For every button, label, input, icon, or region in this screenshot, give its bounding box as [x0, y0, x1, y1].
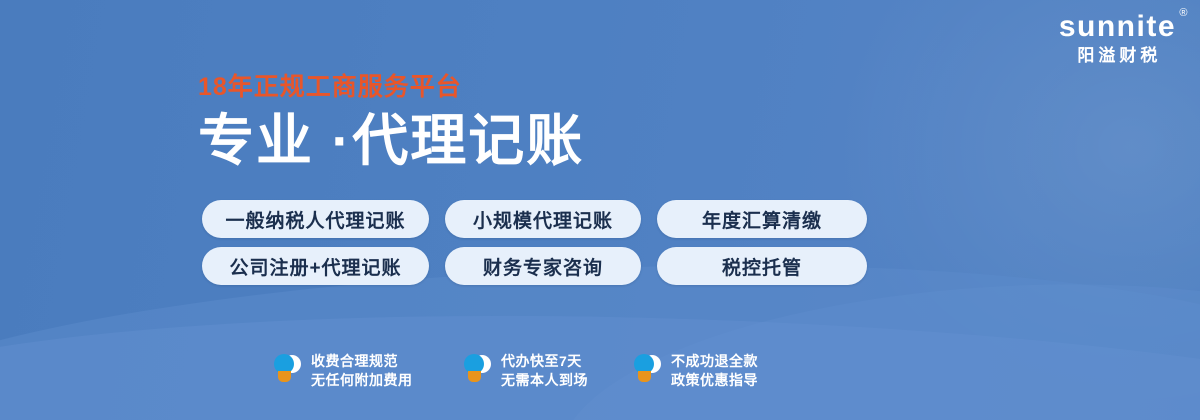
pill-finance-expert-consulting[interactable]: 财务专家咨询	[445, 247, 641, 285]
feature-strip: 收费合理规范 无任何附加费用 代办快至7天 无需本人到场 不成功退全款	[272, 352, 812, 390]
lightbulb-icon	[272, 353, 302, 389]
promo-banner: sunnite ® 阳溢财税 18年正规工商服务平台 专业 ·代理记账 一般纳税…	[0, 0, 1200, 420]
feature-text-pricing: 收费合理规范 无任何附加费用	[311, 352, 413, 390]
pill-company-registration-bookkeeping[interactable]: 公司注册+代理记账	[202, 247, 429, 285]
brand-logo[interactable]: sunnite ® 阳溢财税	[1059, 10, 1176, 66]
service-pill-group: 一般纳税人代理记账 小规模代理记账 年度汇算清缴 公司注册+代理记账 财务专家咨…	[202, 200, 867, 294]
feature-text-speed: 代办快至7天 无需本人到场	[501, 352, 588, 390]
service-pill-row-1: 一般纳税人代理记账 小规模代理记账 年度汇算清缴	[202, 200, 867, 238]
feature-line-1: 代办快至7天	[501, 352, 588, 371]
feature-line-2: 政策优惠指导	[671, 371, 758, 390]
pill-annual-tax-settlement[interactable]: 年度汇算清缴	[657, 200, 867, 238]
pill-small-scale-bookkeeping[interactable]: 小规模代理记账	[445, 200, 641, 238]
headline-block: 18年正规工商服务平台 专业 ·代理记账	[198, 72, 584, 174]
lightbulb-icon	[462, 353, 492, 389]
feature-text-guarantee: 不成功退全款 政策优惠指导	[671, 352, 758, 390]
feature-line-1: 不成功退全款	[671, 352, 758, 371]
feature-item-speed: 代办快至7天 无需本人到场	[462, 352, 632, 390]
feature-line-2: 无任何附加费用	[311, 371, 413, 390]
registered-trademark-icon: ®	[1179, 8, 1189, 19]
pill-tax-control-hosting[interactable]: 税控托管	[657, 247, 867, 285]
feature-line-2: 无需本人到场	[501, 371, 588, 390]
pill-general-taxpayer-bookkeeping[interactable]: 一般纳税人代理记账	[202, 200, 429, 238]
feature-item-guarantee: 不成功退全款 政策优惠指导	[632, 352, 812, 390]
service-pill-row-2: 公司注册+代理记账 财务专家咨询 税控托管	[202, 247, 867, 285]
feature-item-pricing: 收费合理规范 无任何附加费用	[272, 352, 462, 390]
logo-chinese-name: 阳溢财税	[1059, 46, 1176, 66]
eyebrow-tagline: 18年正规工商服务平台	[198, 72, 584, 102]
lightbulb-icon	[632, 353, 662, 389]
logo-wordmark: sunnite	[1059, 10, 1176, 44]
page-title: 专业 ·代理记账	[198, 108, 584, 174]
feature-line-1: 收费合理规范	[311, 352, 413, 371]
